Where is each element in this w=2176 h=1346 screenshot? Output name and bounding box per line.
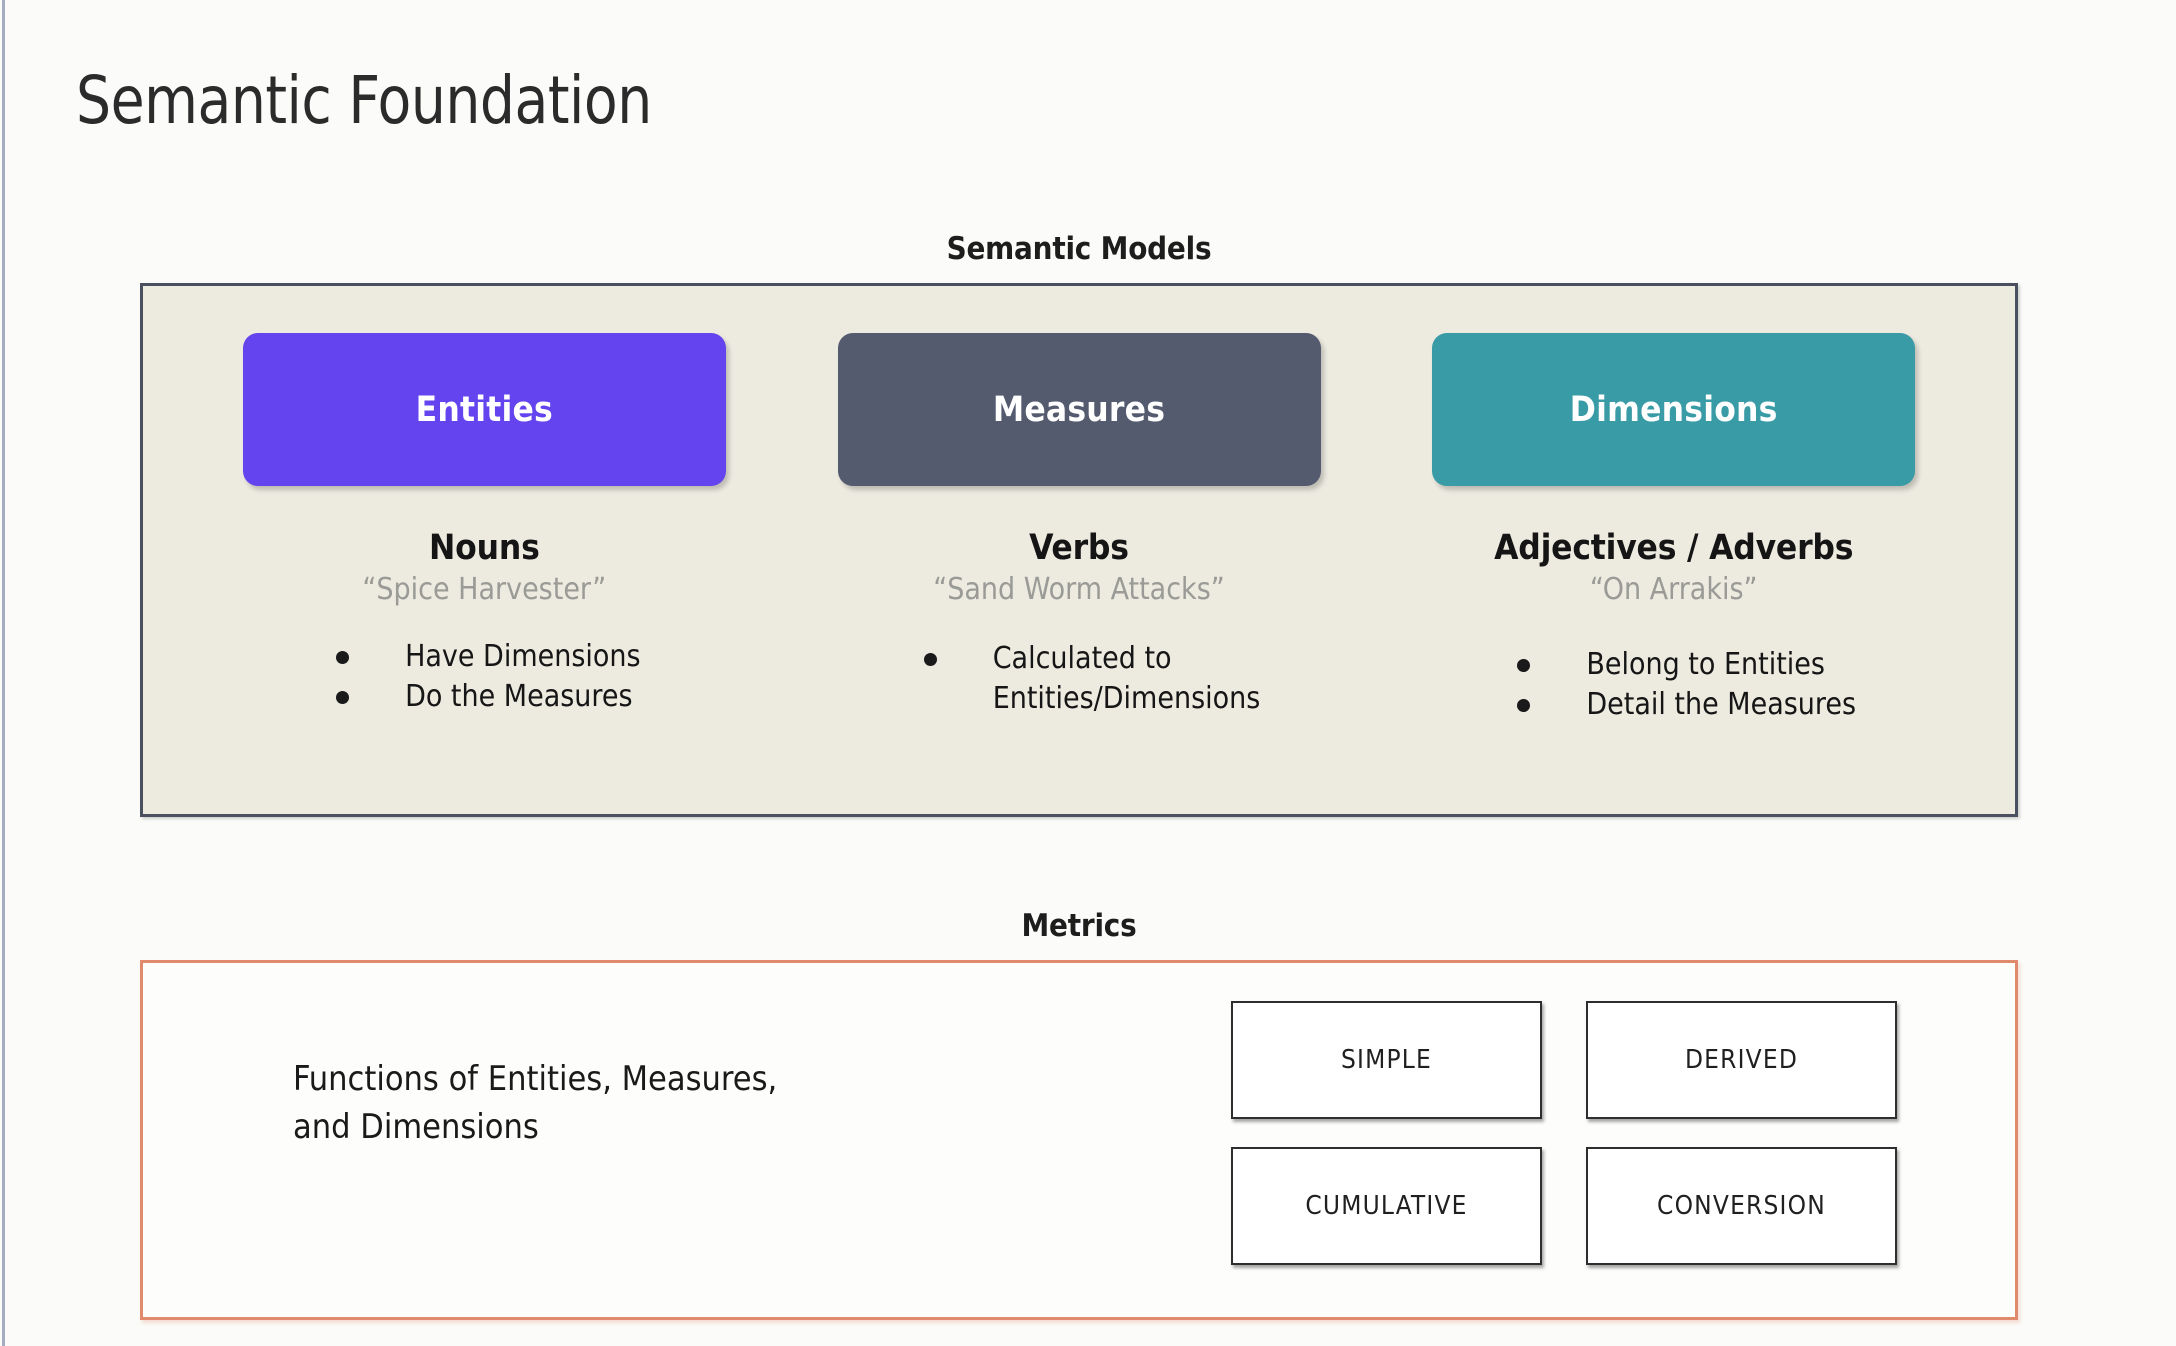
metric-type-cumulative[interactable]: CUMULATIVE (1231, 1147, 1542, 1265)
slide-canvas: Semantic Foundation Semantic Models Enti… (0, 0, 2176, 1346)
semantic-column-measures: Measures Verbs “Sand Worm Attacks” Calcu… (782, 333, 1377, 814)
list-item-label: Belong to Entities (1586, 645, 1856, 685)
semantic-column-dimensions: Dimensions Adjectives / Adverbs “On Arra… (1376, 333, 1971, 814)
bullet-dot-icon (336, 691, 349, 704)
metrics-description: Functions of Entities, Measures, and Dim… (293, 1055, 1053, 1151)
list-item: Detail the Measures (1517, 685, 1856, 725)
bullet-dot-icon (1517, 699, 1530, 712)
list-item: Belong to Entities (1517, 645, 1856, 685)
dimensions-chip[interactable]: Dimensions (1432, 333, 1915, 486)
measures-part-of-speech: Verbs (1029, 528, 1129, 568)
entities-chip[interactable]: Entities (243, 333, 726, 486)
list-item: Have Dimensions (336, 637, 641, 677)
list-item: Calculated to Entities/Dimensions (924, 639, 1261, 719)
dimensions-part-of-speech: Adjectives / Adverbs (1494, 528, 1853, 568)
metrics-panel: Functions of Entities, Measures, and Dim… (140, 960, 2018, 1320)
page-title: Semantic Foundation (76, 62, 652, 140)
list-item: Do the Measures (336, 677, 641, 717)
dimensions-example: “On Arrakis” (1590, 572, 1758, 607)
metric-type-simple[interactable]: SIMPLE (1231, 1001, 1542, 1119)
measures-bullet-list: Calculated to Entities/Dimensions (924, 639, 1261, 719)
list-item-label: Detail the Measures (1586, 685, 1856, 725)
measures-chip[interactable]: Measures (838, 333, 1321, 486)
semantic-column-entities: Entities Nouns “Spice Harvester” Have Di… (187, 333, 782, 814)
metric-type-conversion[interactable]: CONVERSION (1586, 1147, 1897, 1265)
bullet-dot-icon (1517, 659, 1530, 672)
measures-example: “Sand Worm Attacks” (933, 572, 1224, 607)
entities-bullet-list: Have Dimensions Do the Measures (336, 637, 641, 717)
semantic-models-columns: Entities Nouns “Spice Harvester” Have Di… (143, 286, 2015, 814)
list-item-label: Have Dimensions (405, 637, 641, 677)
metric-type-grid: SIMPLE DERIVED CUMULATIVE CONVERSION (1231, 1001, 1931, 1265)
dimensions-bullet-list: Belong to Entities Detail the Measures (1517, 645, 1856, 725)
bullet-dot-icon (336, 651, 349, 664)
list-item-label: Calculated to Entities/Dimensions (993, 639, 1261, 719)
semantic-models-heading: Semantic Models (140, 231, 2018, 267)
entities-part-of-speech: Nouns (429, 528, 540, 568)
metrics-heading: Metrics (140, 908, 2018, 944)
entities-example: “Spice Harvester” (362, 572, 606, 607)
bullet-dot-icon (924, 653, 937, 666)
semantic-models-panel: Entities Nouns “Spice Harvester” Have Di… (140, 283, 2018, 817)
list-item-label: Do the Measures (405, 677, 641, 717)
metric-type-derived[interactable]: DERIVED (1586, 1001, 1897, 1119)
left-edge-rule (2, 0, 5, 1346)
